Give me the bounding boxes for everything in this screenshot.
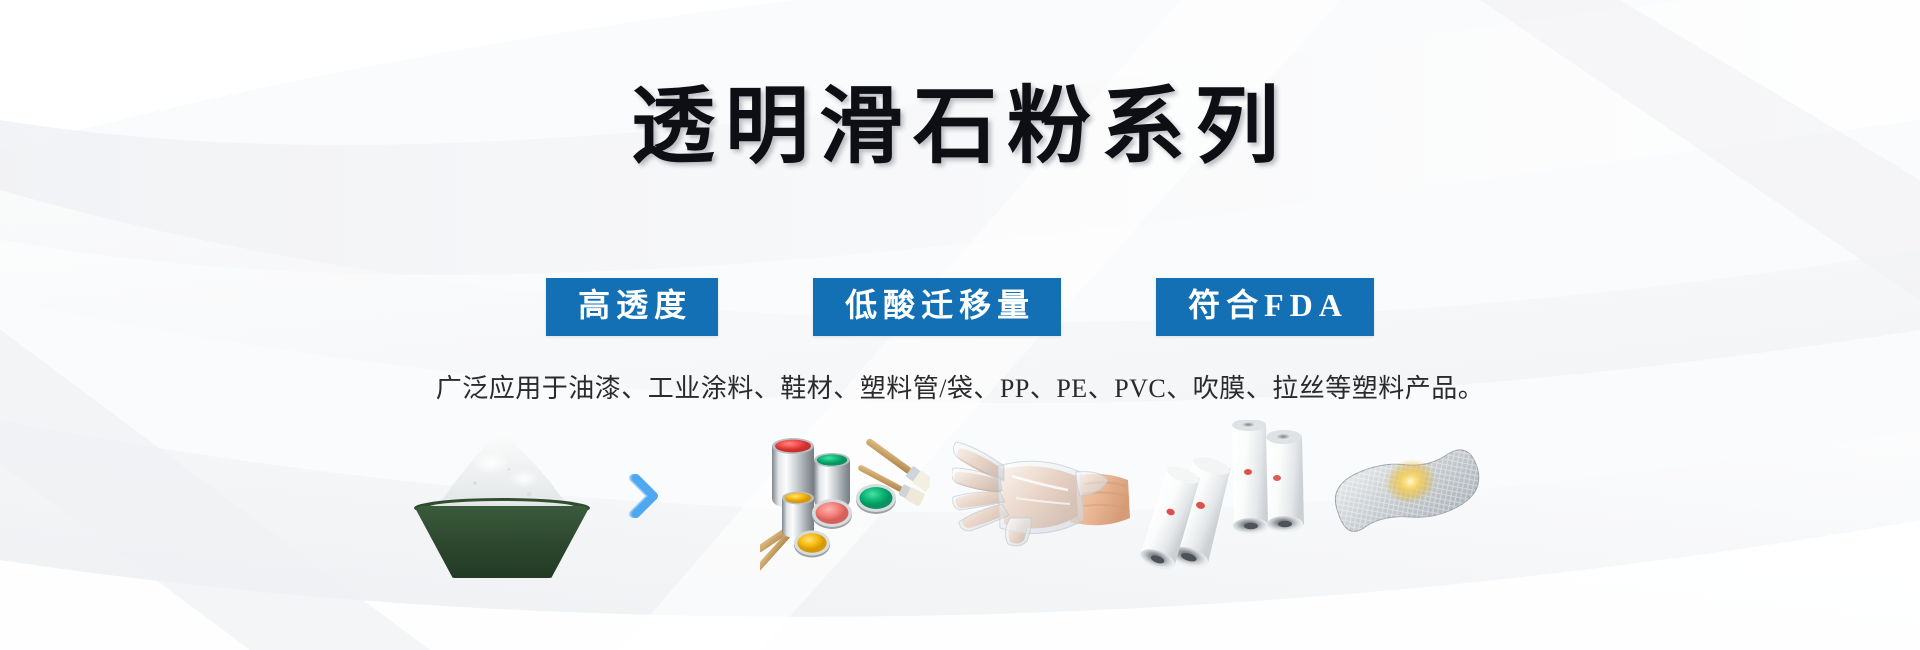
paint-cans-svg (760, 424, 930, 594)
shoe-sole-icon: 鞋材鞋底 (1318, 434, 1488, 564)
product-image-strip: 绿色碗装白色滑石粉 (0, 432, 1920, 612)
paint-cans-icon: 油漆罐与刷子 (760, 424, 930, 594)
feature-badge-2[interactable]: 符合FDA (1156, 278, 1374, 336)
glove-hand-svg (952, 436, 1132, 566)
feature-badge-0[interactable]: 高透度 (546, 278, 718, 336)
feature-badge-list: 高透度 低酸迁移量 符合FDA (0, 278, 1920, 336)
paint-lid-yellow (794, 531, 830, 558)
page-title: 透明滑石粉系列 (0, 86, 1920, 170)
film-roll-back-left (1232, 420, 1270, 534)
bowl-body (414, 506, 590, 578)
paint-lid-pink (812, 499, 852, 529)
shoe-sole-svg (1318, 434, 1488, 564)
film-roll-back-right (1266, 430, 1304, 532)
application-description: 广泛应用于油漆、工业涂料、鞋材、塑料管/袋、PP、PE、PVC、吹膜、拉丝等塑料… (0, 368, 1920, 405)
plastic-film-rolls-icon: 塑料薄膜卷 (1138, 420, 1318, 592)
paint-lid-green (856, 484, 896, 514)
talc-powder-bowl-icon: 绿色碗装白色滑石粉 (408, 428, 598, 578)
product-banner: 透明滑石粉系列 高透度 低酸迁移量 符合FDA 广泛应用于油漆、工业涂料、鞋材、… (0, 0, 1920, 650)
feature-badge-1[interactable]: 低酸迁移量 (813, 278, 1061, 336)
plastic-glove-hand-icon: 手戴透明塑料手套 (952, 436, 1132, 566)
film-rolls-svg (1138, 420, 1318, 595)
